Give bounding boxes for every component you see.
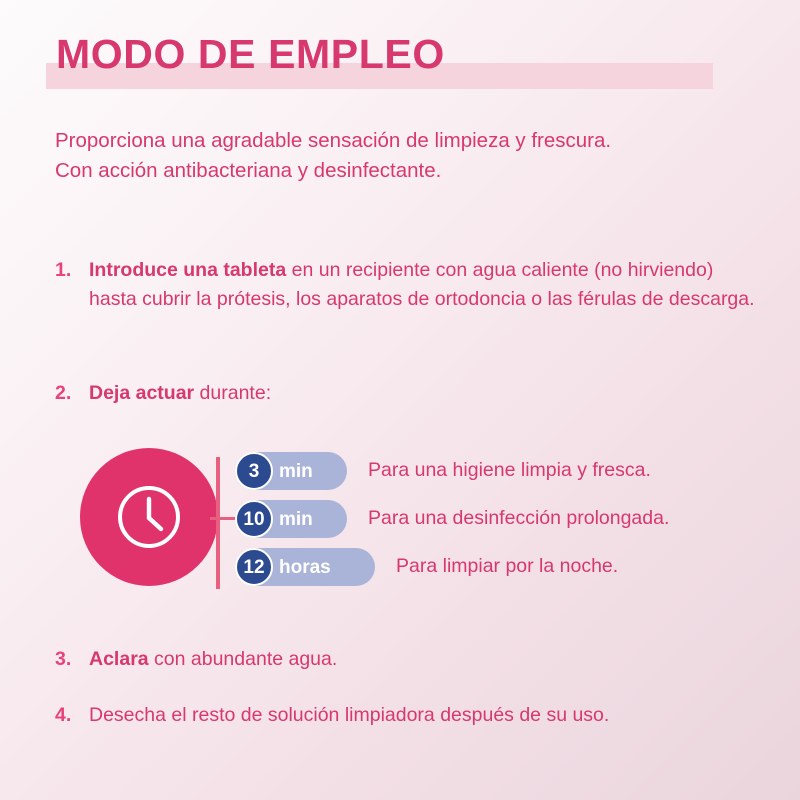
page-title: MODO DE EMPLEO [56, 32, 445, 76]
duration-badge: 10 min [235, 500, 347, 538]
timer-row: 10 min Para una desinfección prolongada. [235, 500, 669, 538]
duration-value-circle: 10 [235, 500, 273, 538]
instructions-page: MODO DE EMPLEO Proporciona una agradable… [0, 0, 800, 800]
duration-unit: horas [279, 558, 331, 577]
clock-icon [114, 482, 184, 552]
step-text-1: Introduce una tableta en un recipiente c… [89, 256, 755, 315]
duration-value: 12 [243, 558, 264, 577]
step-text-3: Aclara con abundante agua. [89, 645, 337, 674]
step-item-2: 2. Deja actuar durante: [55, 379, 755, 408]
duration-description: Para una higiene limpia y fresca. [368, 461, 651, 481]
page-title-block: MODO DE EMPLEO [46, 32, 766, 96]
step-rest-4: Desecha el resto de solución limpiadora … [89, 704, 609, 726]
step-text-4: Desecha el resto de solución limpiadora … [89, 701, 609, 730]
timer-row: 3 min Para una higiene limpia y fresca. [235, 452, 651, 490]
duration-value-circle: 3 [235, 452, 273, 490]
step-number-2: 2. [55, 379, 89, 408]
duration-unit: min [279, 462, 313, 481]
step-item-4: 4. Desecha el resto de solución limpiado… [55, 701, 755, 730]
duration-badge: 3 min [235, 452, 347, 490]
duration-value: 10 [243, 510, 264, 529]
clock-badge [80, 448, 218, 586]
duration-unit: min [279, 510, 313, 529]
duration-description: Para limpiar por la noche. [396, 557, 618, 577]
timer-row: 12 horas Para limpiar por la noche. [235, 548, 618, 586]
step-item-1: 1. Introduce una tableta en un recipient… [55, 256, 755, 315]
duration-value: 3 [249, 462, 260, 481]
step-rest-2: durante: [194, 382, 271, 404]
step-rest-3: con abundante agua. [149, 648, 338, 670]
step-number-3: 3. [55, 645, 89, 674]
subtitle: Proporciona una agradable sensación de l… [55, 126, 755, 186]
step-lead-1: Introduce una tableta [89, 259, 286, 281]
step-lead-3: Aclara [89, 648, 149, 670]
subtitle-line-2: Con acción antibacteriana y desinfectant… [55, 156, 755, 186]
subtitle-line-1: Proporciona una agradable sensación de l… [55, 126, 755, 156]
step-number-1: 1. [55, 256, 89, 285]
step-text-2: Deja actuar durante: [89, 379, 271, 408]
duration-value-circle: 12 [235, 548, 273, 586]
step-number-4: 4. [55, 701, 89, 730]
step-item-3: 3. Aclara con abundante agua. [55, 645, 755, 674]
timer-infographic: 3 min Para una higiene limpia y fresca. … [80, 448, 770, 596]
duration-badge: 12 horas [235, 548, 375, 586]
connector-vertical [216, 457, 220, 589]
duration-description: Para una desinfección prolongada. [368, 509, 669, 529]
step-lead-2: Deja actuar [89, 382, 194, 404]
